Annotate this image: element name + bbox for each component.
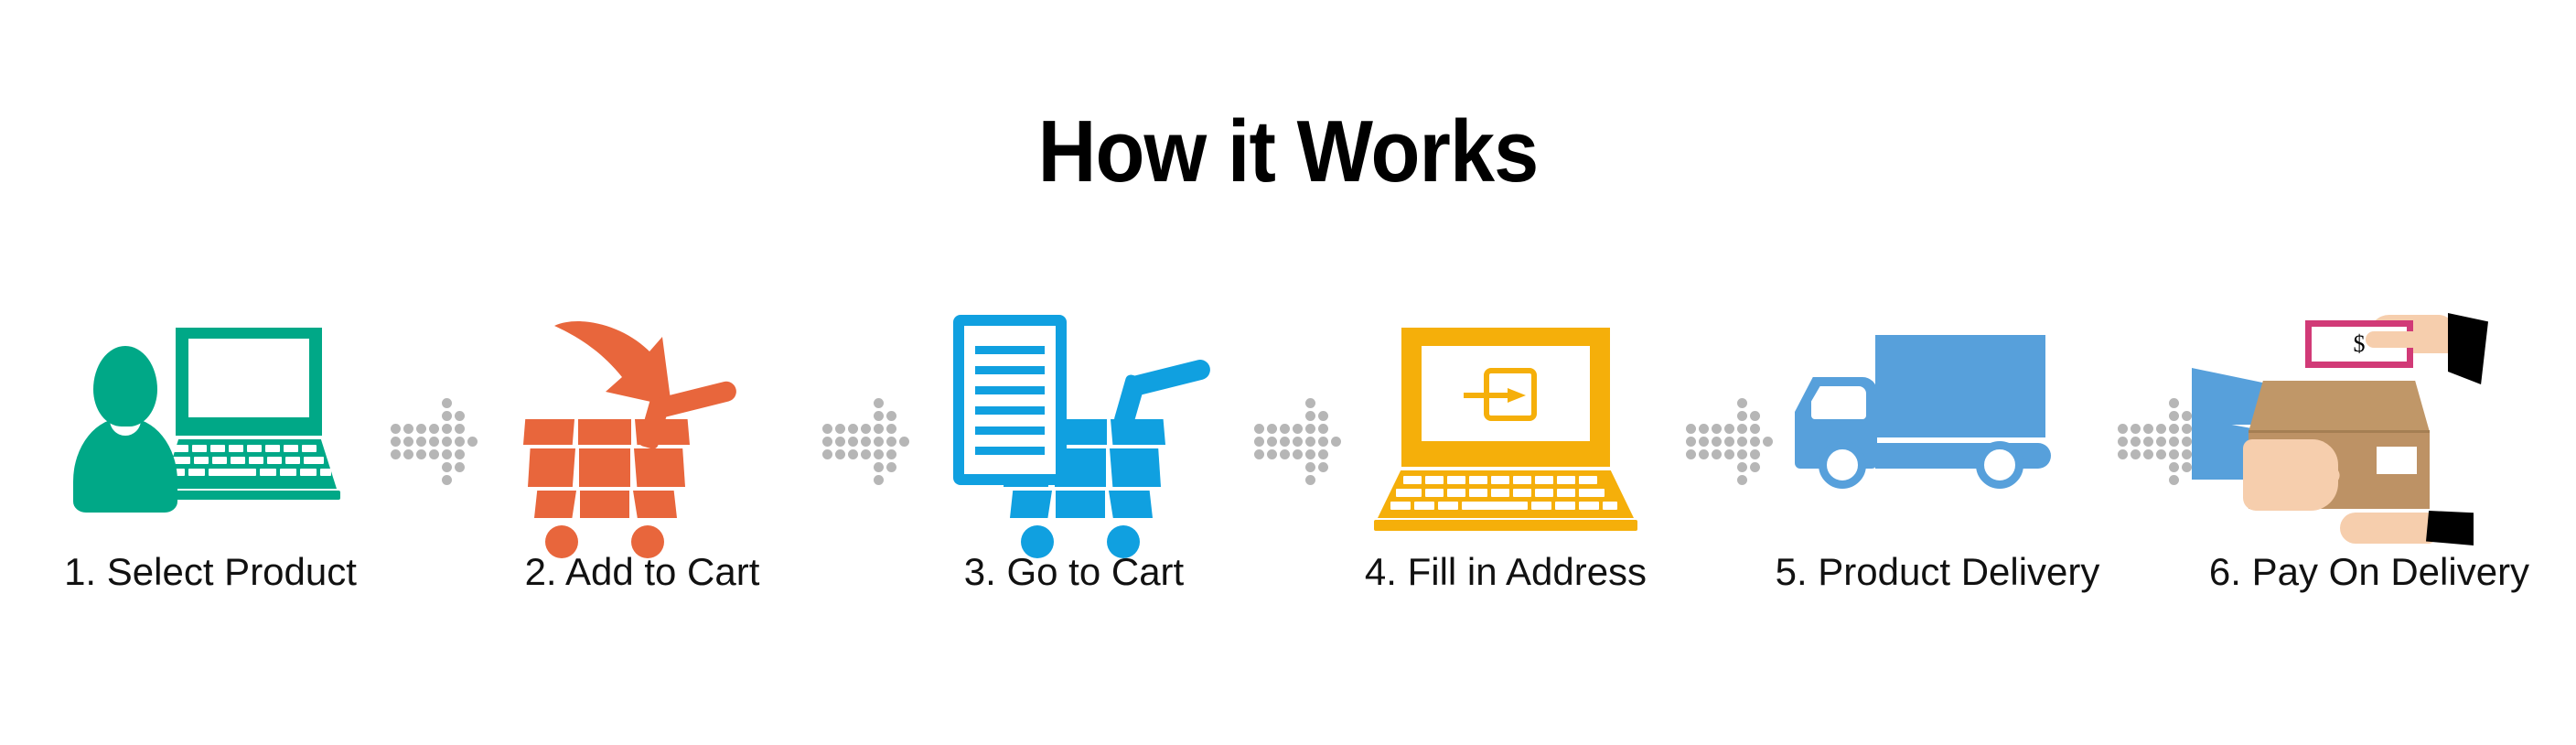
truck-window (1811, 386, 1866, 419)
package-box-top (2249, 381, 2430, 432)
dotted-arrow-right-icon (1682, 398, 1763, 477)
person-head (93, 346, 157, 426)
cart-cell (635, 419, 690, 445)
dotted-arrow-right-icon (819, 398, 899, 477)
step-3-go-to-cart[interactable]: 3. Go to Cart (900, 302, 1248, 650)
cart-cell (1110, 448, 1161, 487)
black-sleeve-upper (2448, 313, 2488, 384)
step-label: 6. Pay On Delivery (2195, 551, 2543, 593)
person-with-laptop-icon (37, 302, 384, 549)
black-sleeve-lower (2426, 511, 2474, 545)
step-1-select-product[interactable]: 1. Select Product (37, 302, 384, 650)
fingers-upper (2366, 331, 2420, 348)
cart-cell (1056, 491, 1105, 518)
laptop-keyboard (1394, 476, 1617, 513)
document-text-line (975, 447, 1045, 455)
enter-arrow-icon (1464, 388, 1528, 403)
cart-cell (523, 419, 574, 445)
cart-cell (1109, 491, 1153, 518)
truck-chassis (1875, 443, 2051, 469)
step-6-pay-on-delivery[interactable]: $ 6. Pay On Delivery (2195, 302, 2543, 650)
hand-receiving (2340, 513, 2435, 544)
hands-exchanging-box-and-cash-icon: $ (2195, 302, 2543, 549)
steps-row: 1. Select Product (37, 302, 2543, 650)
cart-cell (528, 448, 575, 487)
cart-cell (1010, 491, 1052, 518)
document-text-line (975, 426, 1045, 435)
step-label: 1. Select Product (37, 551, 384, 593)
step-2-add-to-cart[interactable]: 2. Add to Cart (468, 302, 816, 650)
cart-cell (633, 491, 677, 518)
dotted-arrow-right-icon (387, 398, 467, 477)
cart-cell (578, 419, 631, 445)
document-text-line (975, 406, 1045, 415)
dotted-arrow-right-icon (1250, 398, 1331, 477)
delivery-truck-icon (1764, 302, 2111, 549)
separator-4 (1680, 302, 1763, 650)
separator-5 (2112, 302, 2195, 650)
cart-cell (580, 491, 629, 518)
step-label: 5. Product Delivery (1764, 551, 2111, 593)
step-4-fill-in-address[interactable]: 4. Fill in Address (1332, 302, 1680, 650)
how-it-works-infographic: How it Works (0, 0, 2576, 745)
separator-1 (385, 302, 467, 650)
laptop-foot (1374, 520, 1637, 531)
arrow-into-shopping-cart-icon (468, 302, 816, 549)
truck-cargo-box (1875, 335, 2045, 437)
laptop-with-login-arrow-icon (1332, 302, 1680, 549)
laptop-screen (188, 339, 309, 417)
truck-wheel-rear (1976, 441, 2023, 489)
cart-cell (579, 448, 630, 487)
cart-cell (1111, 419, 1165, 445)
document-with-shopping-cart-icon (900, 302, 1248, 549)
step-label: 2. Add to Cart (468, 551, 816, 593)
document-text-line (975, 386, 1045, 394)
laptop-keyboard (174, 445, 326, 481)
cart-cell (534, 491, 576, 518)
shopping-cart (510, 390, 748, 525)
truck-wheel-front (1819, 441, 1866, 489)
cart-cell (634, 448, 685, 487)
step-label: 4. Fill in Address (1332, 551, 1680, 593)
document-text-line (975, 366, 1045, 374)
package-shipping-label (2377, 447, 2417, 474)
separator-3 (1249, 302, 1331, 650)
document-text-line (975, 346, 1045, 354)
page-title: How it Works (103, 108, 2474, 196)
laptop-foot (159, 491, 340, 500)
step-5-product-delivery[interactable]: 5. Product Delivery (1764, 302, 2111, 650)
step-label: 3. Go to Cart (900, 551, 1248, 593)
separator-2 (817, 302, 899, 650)
dotted-arrow-right-icon (2114, 398, 2195, 477)
